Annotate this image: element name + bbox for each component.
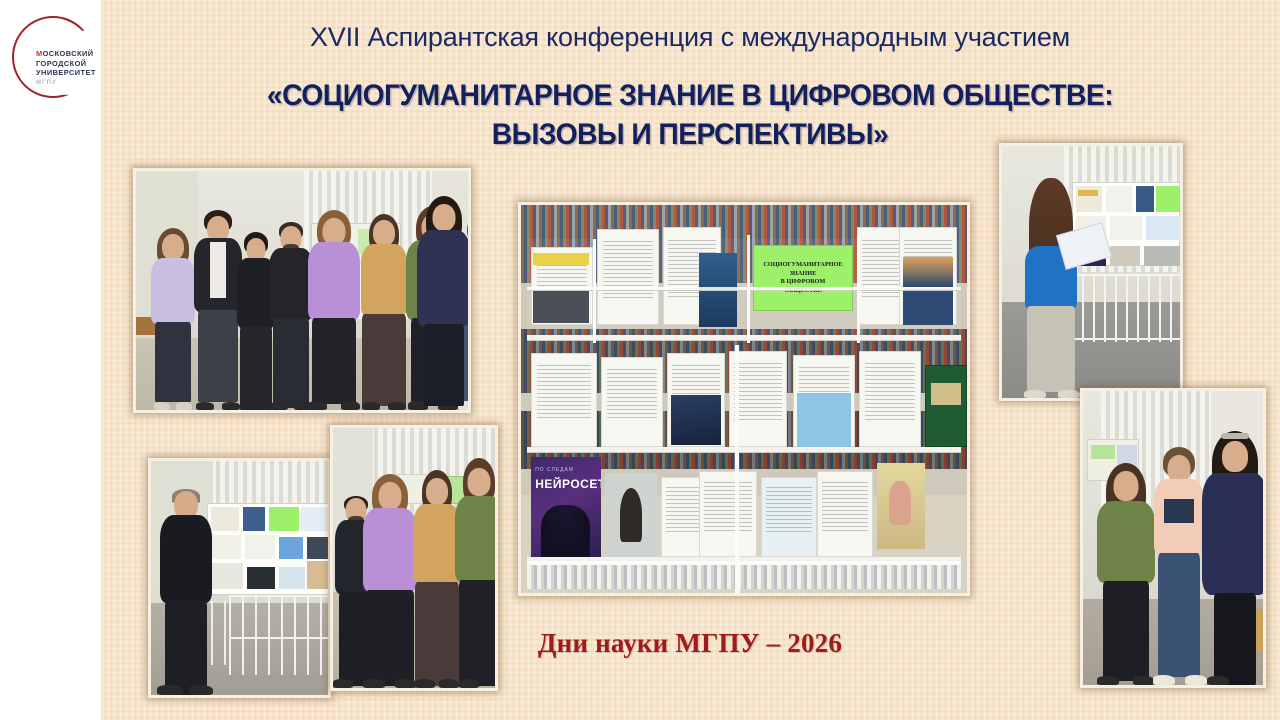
page-title-line-1: «СОЦИОГУМАНИТАРНОЕ ЗНАНИЕ В ЦИФРОВОМ ОБЩ…: [133, 76, 1247, 115]
person-figure: [1151, 443, 1207, 685]
photo-group-nine: [133, 168, 471, 413]
logo-line3: УНИВЕРСИТЕТ: [36, 68, 100, 78]
person-figure: [416, 196, 471, 410]
logo-wordmark: МОСКОВСКИЙ ГОРОДСКОЙ УНИВЕРСИТЕТ МГПУ: [34, 48, 100, 89]
neuro-poster-kicker: ПО СЛЕДАМ: [535, 467, 574, 473]
photo-three-women-right: [1080, 388, 1266, 688]
mgpu-logo: МОСКОВСКИЙ ГОРОДСКОЙ УНИВЕРСИТЕТ МГПУ: [8, 12, 100, 104]
green-sign-line-2: ЗНАНИЕ: [790, 270, 817, 277]
presentation-slide: МОСКОВСКИЙ ГОРОДСКОЙ УНИВЕРСИТЕТ МГПУ XV…: [0, 0, 1280, 720]
photo-exhibit-main: СОЦИОГУМАНИТАРНОЕ ЗНАНИЕ В ЦИФРОВОМ ОБЩЕ…: [518, 202, 970, 596]
person-figure: [1020, 172, 1082, 398]
person-figure: [455, 456, 498, 688]
person-figure: [148, 224, 198, 410]
logo-line1-rest: ОСКОВСКИЙ: [43, 49, 94, 58]
neuro-poster-title: НЕЙРОСЕТИ: [535, 477, 601, 491]
person-figure: [1095, 457, 1157, 685]
logo-abbr: МГПУ: [36, 79, 100, 89]
person-figure: [306, 208, 362, 410]
person-figure: [1201, 429, 1266, 685]
photo-four-people: [330, 425, 498, 691]
photo-reader-standing: [999, 143, 1183, 401]
person-figure: [358, 210, 410, 410]
green-book: [925, 365, 967, 447]
exhibit-neuro-poster: ПО СЛЕДАМ НЕЙРОСЕТИ: [531, 457, 601, 557]
green-sign-line-1: СОЦИОГУМАНИТАРНОЕ: [763, 261, 842, 268]
left-brand-strip: МОСКОВСКИЙ ГОРОДСКОЙ УНИВЕРСИТЕТ МГПУ: [0, 0, 101, 720]
logo-line1-initial: М: [36, 49, 43, 58]
person-figure: [157, 483, 215, 695]
exhibit-green-sign: СОЦИОГУМАНИТАРНОЕ ЗНАНИЕ В ЦИФРОВОМ ОБЩЕ…: [753, 245, 853, 311]
green-sign-line-3: В ЦИФРОВОМ: [781, 278, 826, 285]
conference-subtitle: XVII Аспирантская конференция с междунар…: [110, 22, 1270, 53]
logo-line2: ГОРОДСКОЙ: [36, 59, 100, 69]
photo-man-at-rack: [148, 458, 331, 698]
